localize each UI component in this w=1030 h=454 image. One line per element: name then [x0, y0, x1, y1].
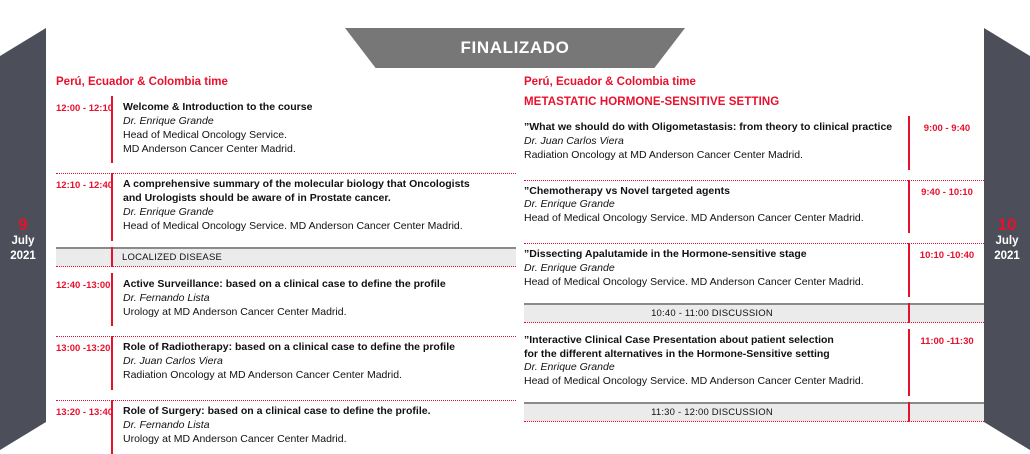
session-time: 12:00 - 12:10: [56, 96, 111, 163]
session-affiliation: Head of Medical Oncology Service.: [123, 129, 516, 143]
session-speaker: Dr. Juan Carlos Viera: [524, 135, 898, 149]
session-speaker: Dr. Fernando Lista: [123, 292, 516, 306]
agenda-columns: Perú, Ecuador & Colombia time 12:00 - 12…: [0, 76, 1030, 454]
session-title: and Urologists should be aware of in Pro…: [123, 192, 516, 206]
session-time: 11:00 -11:30: [910, 329, 984, 396]
session-body: Role of Surgery: based on a clinical cas…: [113, 400, 516, 454]
session-affiliation: Radiation Oncology at MD Anderson Cancer…: [524, 149, 898, 163]
session-row[interactable]: 12:00 - 12:10 Welcome & Introduction to …: [56, 96, 516, 163]
band-rule: [111, 247, 113, 267]
session-body: Role of Radiotherapy: based on a clinica…: [113, 336, 516, 390]
timezone-label-right: Perú, Ecuador & Colombia time: [524, 76, 984, 88]
session-body: ”What we should do with Oligometastasis:…: [524, 116, 908, 170]
session-speaker: Dr. Enrique Grande: [123, 115, 516, 129]
session-affiliation: Radiation Oncology at MD Anderson Cancer…: [123, 369, 516, 383]
session-body: ”Dissecting Apalutamide in the Hormone-s…: [524, 243, 908, 297]
status-banner: FINALIZADO: [0, 28, 1030, 68]
session-row[interactable]: 13:20 - 13:40 Role of Surgery: based on …: [56, 400, 516, 454]
session-title: Role of Surgery: based on a clinical cas…: [123, 405, 516, 419]
discussion-band-label: 10:40 - 11:00 DISCUSSION: [651, 308, 857, 319]
session-body: A comprehensive summary of the molecular…: [113, 173, 516, 240]
session-time: 12:40 -13:00: [56, 273, 111, 327]
session-time: 9:00 - 9:40: [910, 116, 984, 170]
session-title: ”What we should do with Oligometastasis:…: [524, 121, 898, 135]
session-body: Welcome & Introduction to the course Dr.…: [113, 96, 516, 163]
session-speaker: Dr. Enrique Grande: [524, 198, 898, 212]
session-body: Active Surveillance: based on a clinical…: [113, 273, 516, 327]
session-body: ”Interactive Clinical Case Presentation …: [524, 329, 908, 396]
session-row[interactable]: ”Chemotherapy vs Novel targeted agents D…: [524, 180, 984, 234]
session-time: 12:10 - 12:40: [56, 173, 111, 240]
status-banner-shape: FINALIZADO: [345, 28, 685, 68]
session-title: for the different alternatives in the Ho…: [524, 348, 898, 362]
timezone-label-left: Perú, Ecuador & Colombia time: [56, 76, 516, 88]
session-row[interactable]: 12:10 - 12:40 A comprehensive summary of…: [56, 173, 516, 240]
session-time: 13:00 -13:20: [56, 336, 111, 390]
discussion-band: 11:30 - 12:00 DISCUSSION: [524, 402, 984, 422]
status-banner-label: FINALIZADO: [461, 38, 570, 58]
session-time: 9:40 - 10:10: [910, 180, 984, 234]
session-affiliation: MD Anderson Cancer Center Madrid.: [123, 143, 516, 157]
session-time: 10:10 -10:40: [910, 243, 984, 297]
agenda-day-two: Perú, Ecuador & Colombia time METASTATIC…: [524, 76, 984, 454]
session-row[interactable]: 12:40 -13:00 Active Surveillance: based …: [56, 273, 516, 327]
discussion-band-label: 11:30 - 12:00 DISCUSSION: [651, 407, 857, 418]
session-affiliation: Head of Medical Oncology Service. MD And…: [123, 220, 516, 234]
session-time: 13:20 - 13:40: [56, 400, 111, 454]
session-speaker: Dr. Fernando Lista: [123, 419, 516, 433]
section-title-metastatic: METASTATIC HORMONE-SENSITIVE SETTING: [524, 96, 984, 108]
session-affiliation: Urology at MD Anderson Cancer Center Mad…: [123, 433, 516, 447]
session-affiliation: Head of Medical Oncology Service. MD And…: [524, 375, 898, 389]
session-title: Active Surveillance: based on a clinical…: [123, 278, 516, 292]
agenda-day-one: Perú, Ecuador & Colombia time 12:00 - 12…: [56, 76, 516, 454]
session-title: ”Dissecting Apalutamide in the Hormone-s…: [524, 248, 898, 262]
band-rule: [908, 303, 910, 323]
session-affiliation: Urology at MD Anderson Cancer Center Mad…: [123, 306, 516, 320]
session-title: Welcome & Introduction to the course: [123, 101, 516, 115]
session-title: Role of Radiotherapy: based on a clinica…: [123, 341, 516, 355]
session-speaker: Dr. Enrique Grande: [123, 206, 516, 220]
discussion-band: 10:40 - 11:00 DISCUSSION: [524, 303, 984, 323]
session-speaker: Dr. Enrique Grande: [524, 361, 898, 375]
session-title: ”Interactive Clinical Case Presentation …: [524, 334, 898, 348]
section-band-localized-disease: LOCALIZED DISEASE: [56, 247, 516, 267]
session-speaker: Dr. Juan Carlos Viera: [123, 355, 516, 369]
session-row[interactable]: 13:00 -13:20 Role of Radiotherapy: based…: [56, 336, 516, 390]
section-band-label: LOCALIZED DISEASE: [56, 252, 222, 263]
session-row[interactable]: ”Interactive Clinical Case Presentation …: [524, 329, 984, 396]
session-affiliation: Head of Medical Oncology Service. MD And…: [524, 276, 898, 290]
session-body: ”Chemotherapy vs Novel targeted agents D…: [524, 180, 908, 234]
band-rule: [908, 402, 910, 422]
session-row[interactable]: ”What we should do with Oligometastasis:…: [524, 116, 984, 170]
session-title: ”Chemotherapy vs Novel targeted agents: [524, 185, 898, 199]
session-affiliation: Head of Medical Oncology Service. MD And…: [524, 212, 898, 226]
session-speaker: Dr. Enrique Grande: [524, 262, 898, 276]
session-title: A comprehensive summary of the molecular…: [123, 178, 516, 192]
session-row[interactable]: ”Dissecting Apalutamide in the Hormone-s…: [524, 243, 984, 297]
